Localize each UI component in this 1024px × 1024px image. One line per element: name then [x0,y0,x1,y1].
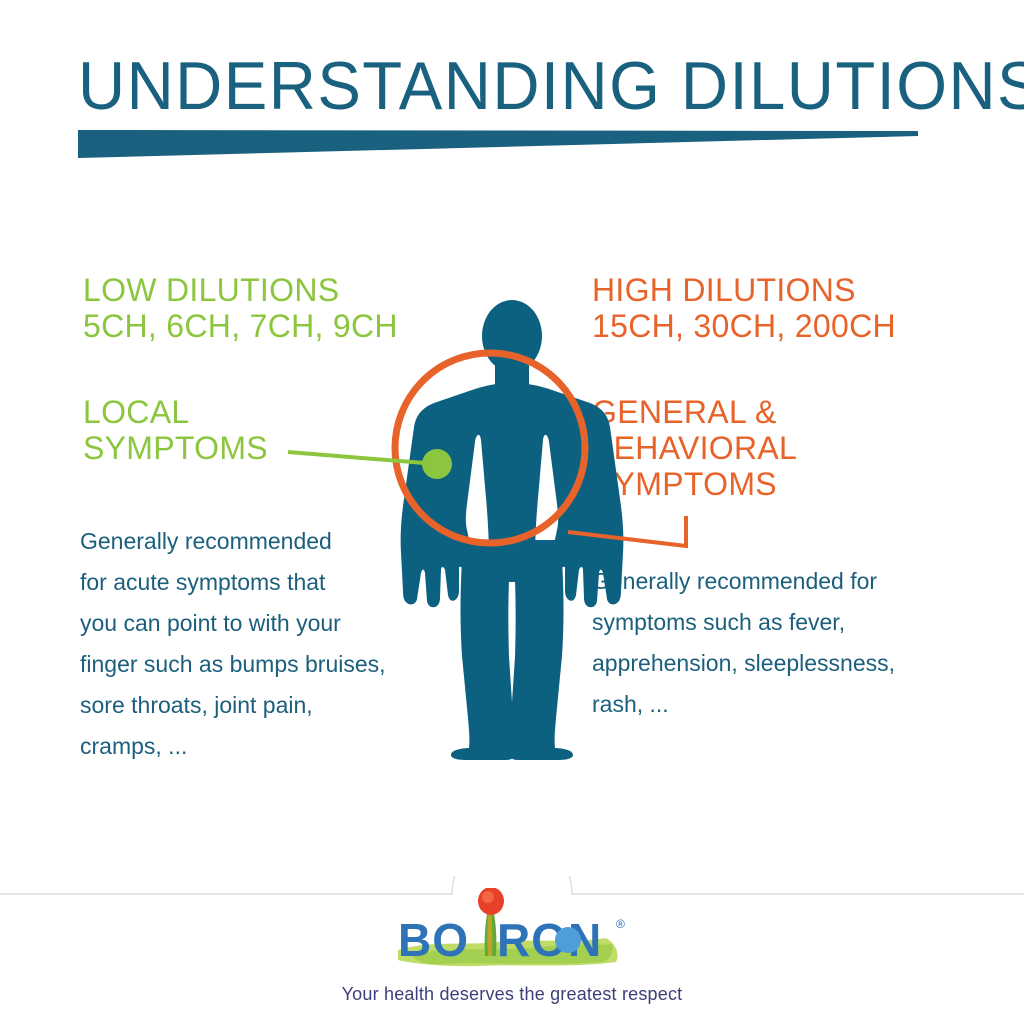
local-symptoms-heading: LOCAL SYMPTOMS [83,394,268,466]
high-dilutions-heading: HIGH DILUTIONS 15CH, 30CH, 200CH [592,272,896,344]
svg-text:BO: BO [398,914,469,966]
logo-o-circle [555,927,581,953]
low-dilutions-heading: LOW DILUTIONS 5CH, 6CH, 7CH, 9CH [83,272,398,344]
orange-leader-line [568,516,686,546]
title-underline-wedge [78,128,918,160]
svg-text:RON: RON [497,914,602,966]
low-dilutions-description: Generally recommended for acute symptoms… [80,521,460,767]
green-leader-line [288,452,437,464]
boiron-logo: BO RON ® [392,888,632,978]
general-behavioral-symptoms-heading: GENERAL & BEHAVIORAL SYMPTOMS [592,394,797,502]
green-local-symptom-dot [422,449,452,479]
high-dilutions-description: Generally recommended for symptoms such … [592,561,962,725]
infographic-page: UNDERSTANDING DILUTIONS LOW DILUTIONS 5C… [0,0,1024,1024]
page-title: UNDERSTANDING DILUTIONS [78,50,904,122]
brand-tagline: Your health deserves the greatest respec… [0,984,1024,1005]
registered-mark: ® [616,917,625,931]
orange-highlight-circle [395,353,585,543]
